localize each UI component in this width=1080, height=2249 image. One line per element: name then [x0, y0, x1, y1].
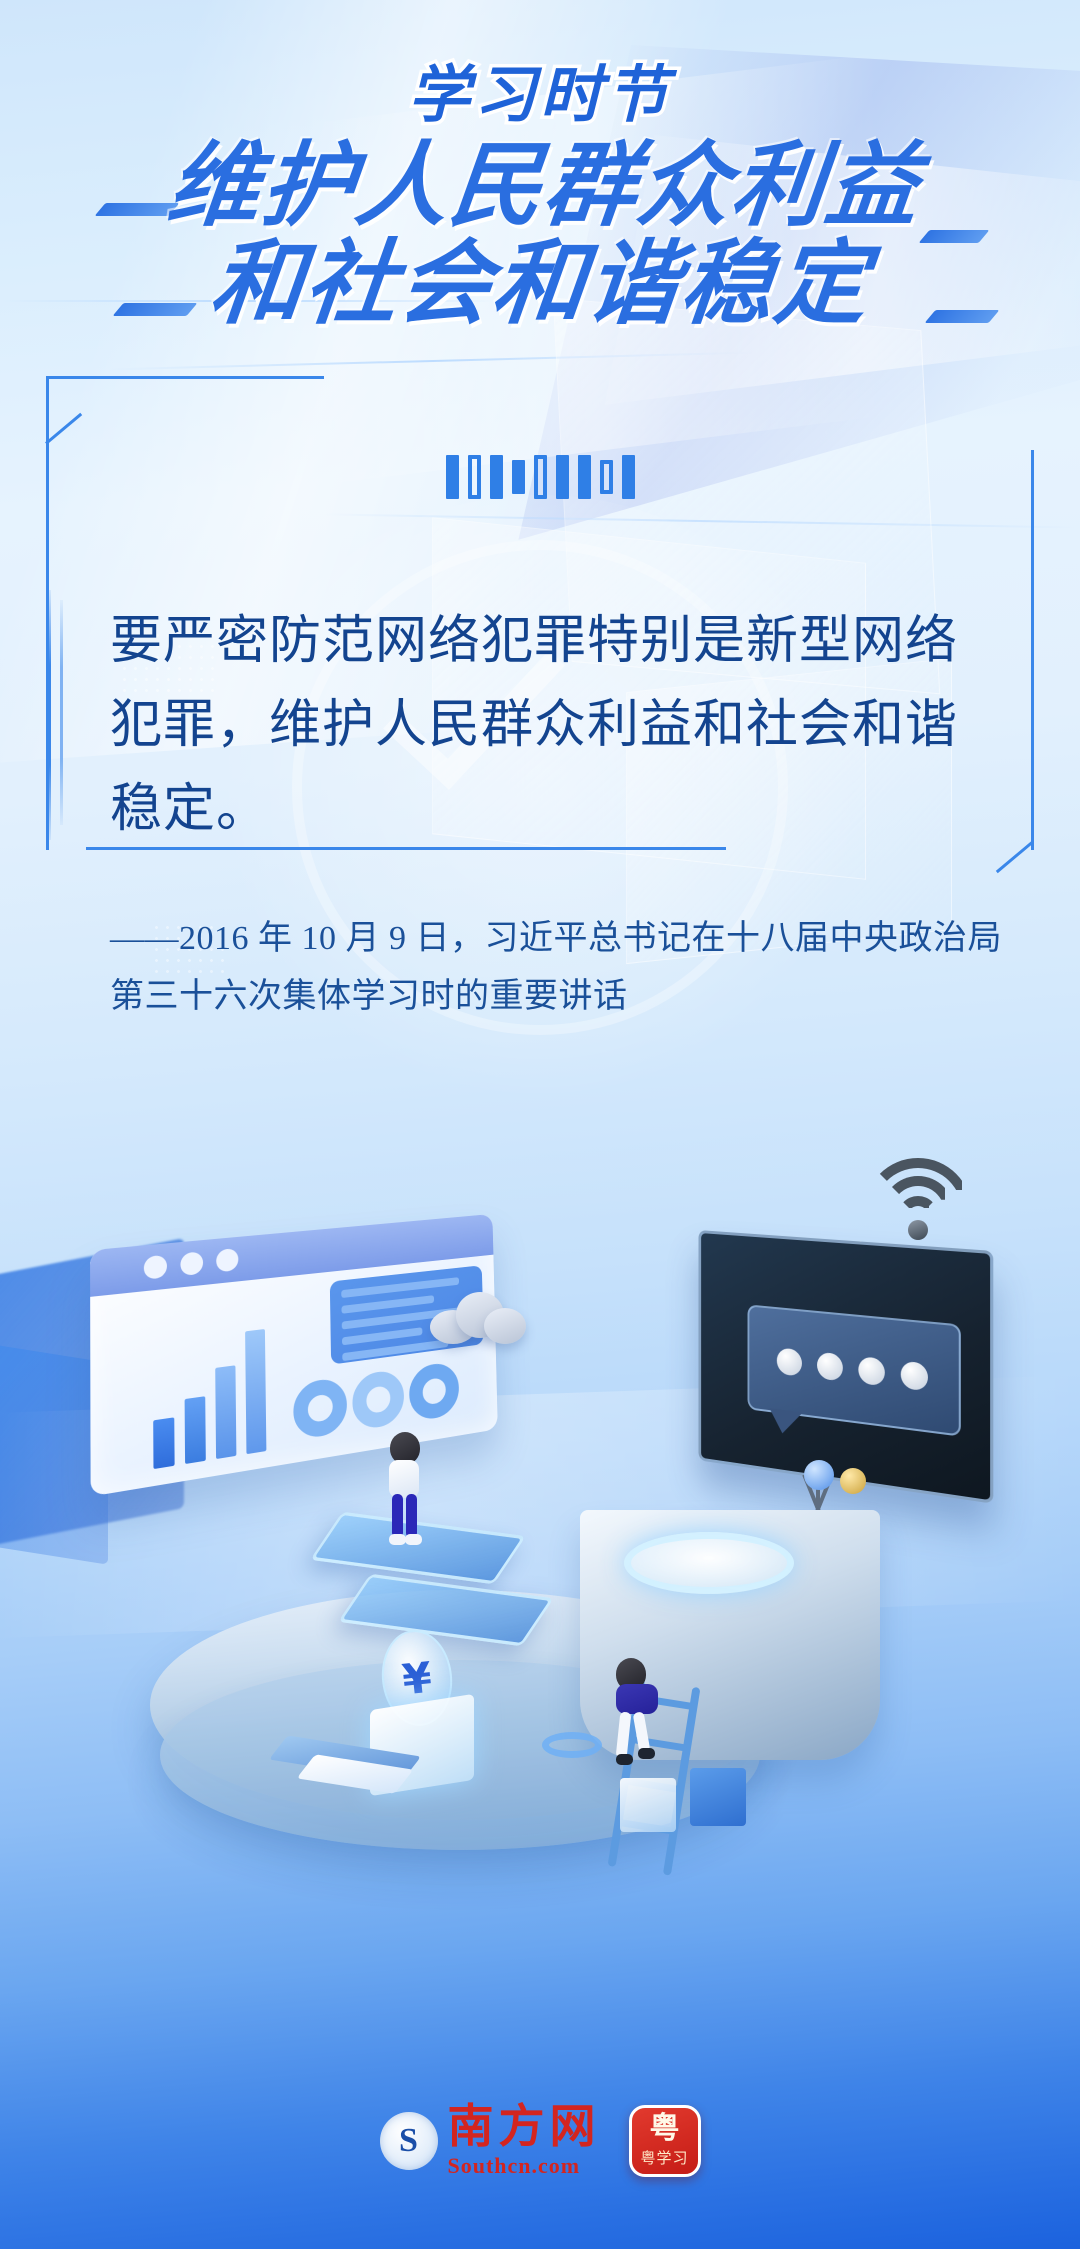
southcn-mark-icon: S: [380, 2112, 438, 2170]
tripod-node: [804, 1460, 834, 1490]
small-glow-ring: [542, 1732, 602, 1758]
cloud-icon: [430, 1288, 526, 1346]
southcn-name-cn: 南方网: [448, 2104, 601, 2150]
title-line-1: 维护人民群众利益: [0, 140, 1080, 234]
chart-bar-2: [185, 1396, 206, 1464]
brand-title: 学习时节: [408, 44, 672, 134]
quote-rail-secondary: [60, 600, 63, 825]
divider-bar-9: [622, 455, 635, 499]
decorative-divider: [0, 455, 1080, 499]
person-on-ladder: [616, 1658, 660, 1758]
divider-bar-2: [468, 455, 481, 499]
quote-body-text: 要严密防范网络犯罪特别是新型网络犯罪，维护人民群众利益和社会和谐稳定。: [110, 600, 990, 853]
frame-corner-top-left: [46, 376, 127, 457]
page-title: 维护人民群众利益 和社会和谐稳定: [0, 140, 1080, 332]
browser-dot-2: [180, 1251, 203, 1276]
brand-header: 学习时节: [0, 44, 1080, 134]
chart-bar-3: [215, 1365, 236, 1459]
chart-donut-3: [409, 1361, 460, 1422]
chart-bar-1: [153, 1417, 174, 1469]
chat-dot-4: [901, 1360, 928, 1391]
chart-donut-1: [293, 1376, 347, 1440]
quote-block: 要严密防范网络犯罪特别是新型网络犯罪，维护人民群众利益和社会和谐稳定。 ——20…: [46, 500, 1036, 880]
cube-blue: [690, 1768, 746, 1826]
browser-dot-1: [144, 1255, 167, 1280]
divider-bar-5: [534, 455, 547, 499]
monitor-illustration: [699, 1230, 994, 1504]
quote-source-text: ——2016 年 10 月 9 日，习近平总书记在十八届中央政治局第三十六次集体…: [110, 910, 1010, 1027]
southcn-name-en: Southcn.com: [448, 2155, 581, 2177]
coin-glyph: ¥: [400, 1652, 434, 1704]
chat-bubble-icon: [748, 1304, 961, 1436]
browser-dot-3: [216, 1248, 238, 1272]
chat-dot-1: [777, 1347, 802, 1376]
app-glyph: 粤: [650, 2114, 680, 2144]
person-on-platform: [386, 1432, 426, 1528]
app-sub-label: 粤学习: [640, 2147, 688, 2168]
logo-southcn[interactable]: S 南方网 Southcn.com: [380, 2104, 601, 2177]
browser-window-illustration: [90, 1214, 498, 1497]
title-line-2: 和社会和谐稳定: [0, 238, 1080, 332]
chart-donut-2: [352, 1368, 404, 1431]
divider-bar-7: [578, 455, 591, 499]
chat-dot-2: [817, 1351, 843, 1381]
divider-bar-1: [446, 455, 459, 499]
logo-yuexuexi-app[interactable]: 粤 粤学习: [629, 2105, 701, 2177]
poster-root: 学习时节 维护人民群众利益 和社会和谐稳定 要严密防范网络犯罪特别是新型网络犯罪…: [0, 0, 1080, 2249]
chat-dot-3: [858, 1356, 884, 1386]
quote-rail-primary: [46, 590, 51, 840]
chart-bar-4: [245, 1329, 266, 1454]
tripod-gold-ball: [840, 1468, 866, 1494]
divider-bar-8: [600, 460, 613, 494]
podium-scene: ¥: [150, 1510, 890, 1840]
podium-glow-ring: [624, 1532, 794, 1594]
divider-bar-3: [490, 455, 503, 499]
frame-edge-top-a: [124, 376, 324, 379]
illustration-scene: ¥: [0, 1180, 1080, 2020]
divider-bar-4: [512, 460, 525, 494]
footer-logos: S 南方网 Southcn.com 粤 粤学习: [0, 2104, 1080, 2177]
divider-bar-6: [556, 455, 569, 499]
cube-light: [620, 1778, 676, 1832]
wifi-icon: [858, 1158, 978, 1242]
